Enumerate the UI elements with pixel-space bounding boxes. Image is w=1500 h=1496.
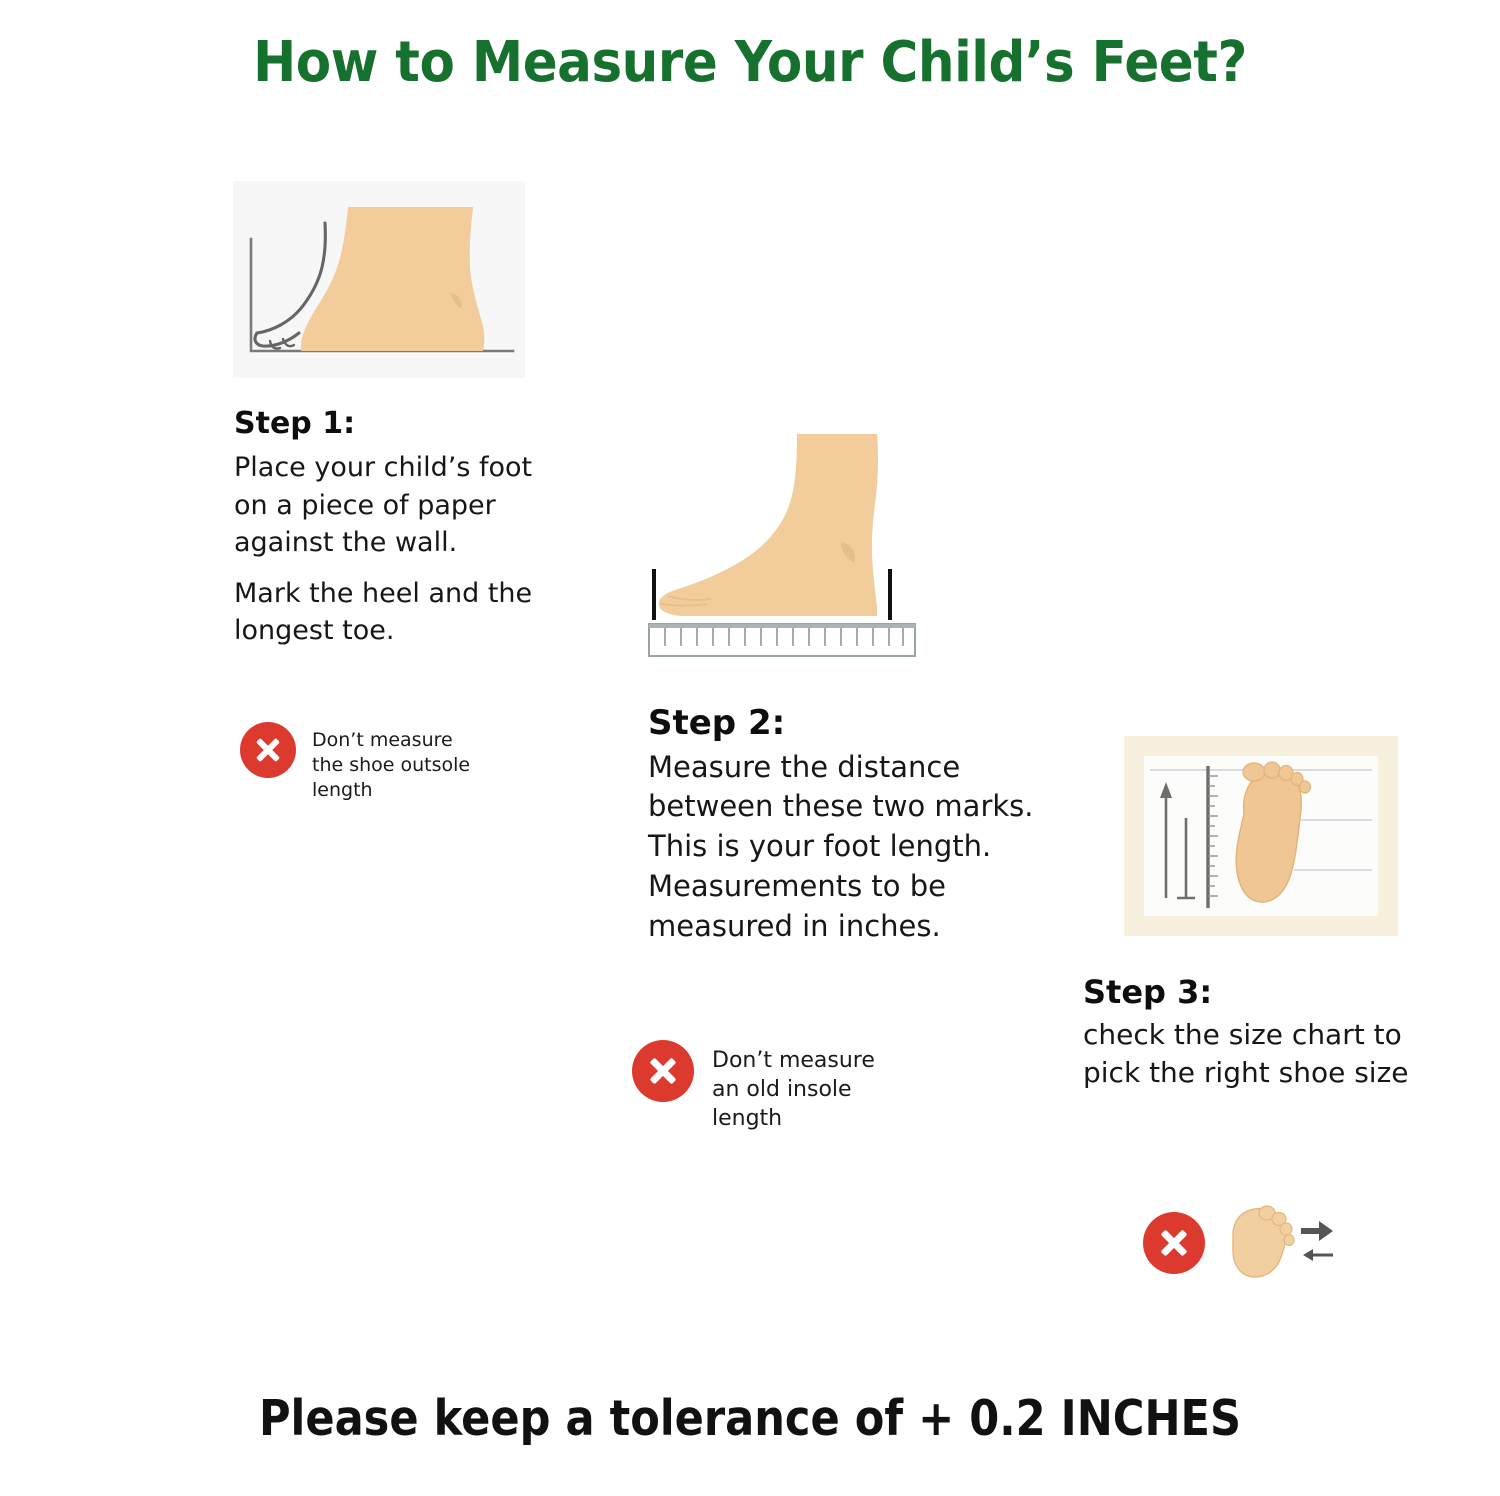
step-2-heading: Step 2: bbox=[648, 705, 1078, 742]
warning-line-1: Don’t measure bbox=[712, 1046, 932, 1075]
step-3-inner-card bbox=[1144, 756, 1378, 916]
step-1-illustration bbox=[233, 181, 525, 378]
tolerance-note: Please keep a tolerance of + 0.2 INCHES bbox=[90, 1390, 1410, 1447]
warning-line-2: the shoe outsole bbox=[312, 753, 512, 778]
step-2-warning-text: Don’t measure an old insole length bbox=[712, 1046, 932, 1133]
warning-line-3: length bbox=[312, 778, 512, 803]
step-1-body: Place your child’s foot on a piece of pa… bbox=[234, 449, 564, 649]
step-1-paragraph-1: Place your child’s foot on a piece of pa… bbox=[234, 449, 564, 561]
step-3-heading: Step 3: bbox=[1083, 975, 1413, 1010]
foot-against-wall-diagram bbox=[233, 181, 525, 378]
red-x-circle-icon bbox=[1143, 1212, 1205, 1274]
step-3-paragraph-1: check the size chart to pick the right s… bbox=[1083, 1016, 1413, 1093]
step-1-warning: Don’t measure the shoe outsole length bbox=[240, 722, 512, 803]
step-1-heading: Step 1: bbox=[234, 408, 564, 440]
footprint-with-arrows-icon bbox=[1227, 1203, 1337, 1283]
foot-on-ruler-diagram bbox=[645, 424, 930, 664]
step-3-text-block: Step 3: check the size chart to pick the… bbox=[1083, 975, 1413, 1092]
step-1-text-block: Step 1: Place your child’s foot on a pie… bbox=[234, 408, 564, 650]
step-3-illustration bbox=[1124, 736, 1398, 936]
footprint-with-vertical-ruler-diagram bbox=[1144, 756, 1378, 916]
step-3-body: check the size chart to pick the right s… bbox=[1083, 1016, 1413, 1093]
step-1-warning-text: Don’t measure the shoe outsole length bbox=[312, 728, 512, 803]
footprint-arrows-graphic bbox=[1227, 1203, 1337, 1283]
step-2-warning: Don’t measure an old insole length bbox=[632, 1040, 932, 1133]
warning-line-1: Don’t measure bbox=[312, 728, 512, 753]
step-3-warning bbox=[1143, 1203, 1337, 1283]
warning-line-3: length bbox=[712, 1104, 932, 1133]
page-title: How to Measure Your Child’s Feet? bbox=[60, 30, 1440, 95]
step-2-illustration bbox=[645, 424, 930, 664]
red-x-circle-icon bbox=[632, 1040, 694, 1102]
step-2-text-block: Step 2: Measure the distance between the… bbox=[648, 705, 1078, 946]
red-x-circle-icon bbox=[240, 722, 296, 778]
step-1-paragraph-2: Mark the heel and the longest toe. bbox=[234, 575, 564, 650]
warning-line-2: an old insole bbox=[712, 1075, 932, 1104]
step-2-body: Measure the distance between these two m… bbox=[648, 748, 1078, 947]
step-2-paragraph-1: Measure the distance between these two m… bbox=[648, 748, 1078, 947]
